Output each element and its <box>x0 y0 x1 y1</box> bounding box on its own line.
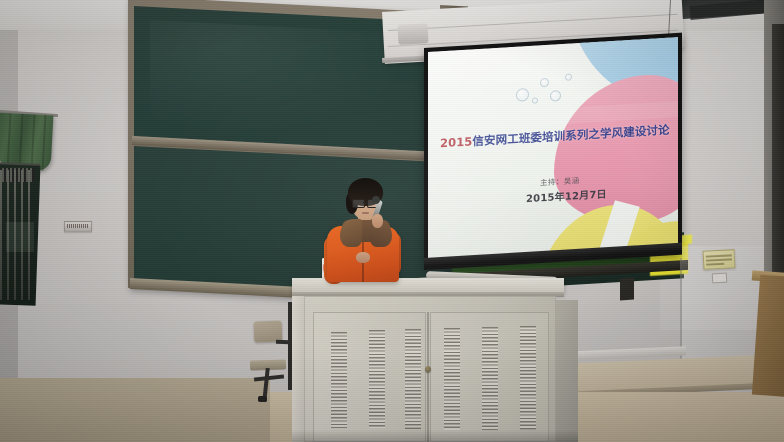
screen-roller-casing <box>397 23 428 45</box>
podium-door-right[interactable] <box>430 312 549 442</box>
speaker-other-hand <box>356 252 370 263</box>
screen-glare <box>428 37 678 264</box>
right-door-panel <box>772 24 784 274</box>
blackboard-lower-panel <box>134 146 454 299</box>
podium-right-side <box>556 300 578 442</box>
blackboard-glare <box>150 20 410 144</box>
wall-notice-plate <box>64 221 92 232</box>
podium-door-left[interactable] <box>313 312 426 442</box>
power-outlet-icon <box>712 273 728 284</box>
wall-sign-icon <box>703 249 736 270</box>
podium-door-handle[interactable] <box>425 366 431 372</box>
chair-support-arm <box>276 340 290 344</box>
speaker-mouth <box>362 212 369 214</box>
projection-screen: 2015信安网工班委培训系列之学风建设讨论 主持：吴涵 2015年12月7日 <box>428 37 678 264</box>
speaker-hand-holding-mic <box>372 214 383 228</box>
blackboard-right-bracket <box>620 278 634 301</box>
chair-foot <box>258 396 267 402</box>
podium-door-seam <box>427 312 429 442</box>
floor-left <box>0 378 270 442</box>
window-light-patch <box>6 222 34 252</box>
podium-floor-shadow <box>292 430 578 442</box>
speaker-collar-left <box>340 219 362 247</box>
mic-head-icon <box>372 196 380 204</box>
lecture-hall-photo: 2015信安网工班委培训系列之学风建设讨论 主持：吴涵 2015年12月7日 <box>0 0 784 442</box>
